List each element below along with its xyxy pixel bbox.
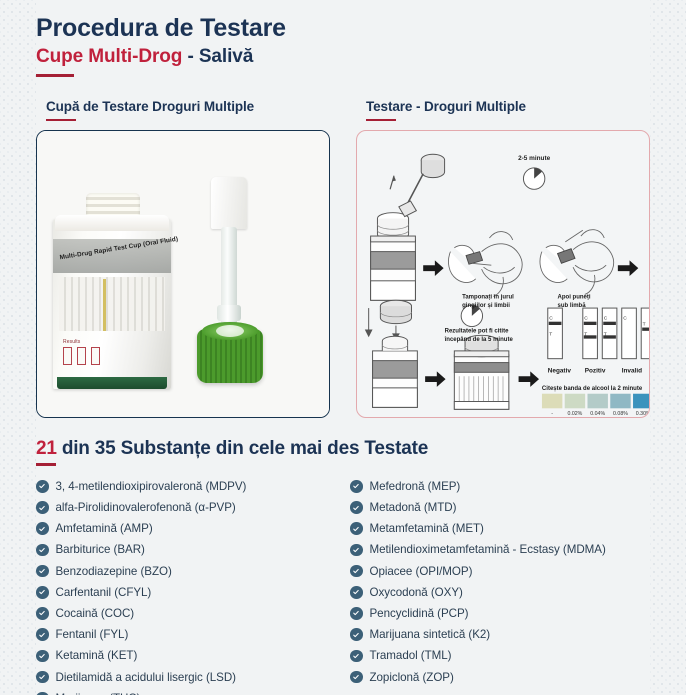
substance-label: Mefedronă (MEP) xyxy=(370,480,461,493)
collector-sponge-pad xyxy=(211,177,247,229)
substance-item: Fentanil (FYL) xyxy=(36,624,336,645)
read-note-line2: începând de la 5 minute xyxy=(444,337,514,343)
substance-item: Zopiclonă (ZOP) xyxy=(350,666,650,687)
alcohol-swatch xyxy=(610,394,630,409)
caption-under-tongue-line1: Apoi puneți xyxy=(558,295,591,301)
check-circle-icon xyxy=(36,544,49,557)
saliva-collector-device xyxy=(189,177,273,389)
check-icon xyxy=(352,609,360,617)
test-cup-device: Multi-Drug Rapid Test Cup (Oral Fluid) R… xyxy=(53,193,171,389)
substance-item: Dietilamidă a acidului lisergic (LSD) xyxy=(36,666,336,687)
arrow-3 xyxy=(425,372,445,388)
step4-screw-cap xyxy=(365,301,418,408)
substance-item: Pencyclidină (PCP) xyxy=(350,603,650,624)
check-icon xyxy=(38,525,46,533)
substances-section: 21 din 35 Substanțe din cele mai des Tes… xyxy=(36,418,650,695)
green-cap xyxy=(197,329,263,383)
substance-item: Metadonă (MTD) xyxy=(350,497,650,518)
product-panel-title: Cupă de Testare Droguri Multiple xyxy=(36,99,330,114)
procedure-diagram-frame: 2-5 minute xyxy=(356,130,650,418)
cup-test-strip-window xyxy=(59,277,165,331)
check-circle-icon xyxy=(350,671,363,684)
panels-row: Cupă de Testare Droguri Multiple Multi-D… xyxy=(36,99,650,419)
substance-label: Oxycodonă (OXY) xyxy=(370,586,463,599)
alcohol-scale-title: Citește banda de alcool la 2 minute xyxy=(542,386,643,392)
substance-item: Opiacee (OPI/MOP) xyxy=(350,561,650,582)
step5-result-cup xyxy=(454,336,509,410)
substances-heading: 21 din 35 Substanțe din cele mai des Tes… xyxy=(36,438,428,466)
substance-label: Ketamină (KET) xyxy=(56,649,138,662)
strip-mark-c: C xyxy=(549,316,553,322)
alcohol-scale: -0.02%0.04%0.08%0.30% xyxy=(542,394,649,417)
check-circle-icon xyxy=(350,650,363,663)
page-subtitle-rest: - Salivă xyxy=(182,46,253,67)
cup-strip-divider xyxy=(103,279,106,331)
substance-item: alfa-Pirolidinovalerofenonă (α-PVP) xyxy=(36,497,336,518)
alcohol-swatch xyxy=(587,394,607,409)
check-icon xyxy=(352,546,360,554)
page-header: Procedura de Testare Cupe Multi-Drog - S… xyxy=(36,0,650,77)
substances-columns: 3, 4-metilendioxipirovaleronă (MDPV)alfa… xyxy=(36,476,650,695)
result-strips xyxy=(548,308,649,359)
page-subtitle: Cupe Multi-Drog - Salivă xyxy=(36,46,650,68)
substance-item: Mefedronă (MEP) xyxy=(350,476,650,497)
substance-item: Amfetamină (AMP) xyxy=(36,518,336,539)
substance-item: Benzodiazepine (BZO) xyxy=(36,561,336,582)
check-icon xyxy=(352,482,360,490)
substance-label: Barbiturice (BAR) xyxy=(56,543,145,556)
substance-item: Marijuana sintetică (K2) xyxy=(350,624,650,645)
substance-label: Metamfetamină (MET) xyxy=(370,522,484,535)
cup-results-caption: Results xyxy=(63,339,80,345)
substance-item: Cocaină (COC) xyxy=(36,603,336,624)
substance-label: Dietilamidă a acidului lisergic (LSD) xyxy=(56,671,237,684)
check-circle-icon xyxy=(350,586,363,599)
substances-heading-rest: din 35 Substanțe din cele mai des Testat… xyxy=(57,438,428,459)
check-circle-icon xyxy=(350,628,363,641)
check-icon xyxy=(38,588,46,596)
check-icon xyxy=(38,504,46,512)
substance-label: Zopiclonă (ZOP) xyxy=(370,671,454,684)
cup-result-boxes xyxy=(63,347,100,365)
check-icon xyxy=(352,567,360,575)
substance-label: Metilendioximetamfetamină - Ecstasy (MDM… xyxy=(370,543,606,556)
strip-mark-t: T xyxy=(604,332,607,338)
result-label-invalid: Invalid xyxy=(622,368,642,375)
alcohol-swatch xyxy=(633,394,649,409)
substance-item: Barbiturice (BAR) xyxy=(36,539,336,560)
check-icon xyxy=(38,567,46,575)
procedure-panel: Testare - Droguri Multiple xyxy=(356,99,650,419)
arrow-1 xyxy=(423,261,443,277)
check-icon xyxy=(38,673,46,681)
strip-mark-c: C xyxy=(604,316,608,322)
product-photo: Multi-Drug Rapid Test Cup (Oral Fluid) R… xyxy=(37,131,329,417)
check-circle-icon xyxy=(350,480,363,493)
check-circle-icon xyxy=(36,586,49,599)
substance-label: Tramadol (TML) xyxy=(370,649,452,662)
substances-right-column: Mefedronă (MEP)Metadonă (MTD)Metamfetami… xyxy=(350,476,650,695)
product-panel-rule xyxy=(46,119,76,122)
strip-mark-t: T xyxy=(549,332,552,338)
check-circle-icon xyxy=(36,607,49,620)
substance-label: Pencyclidină (PCP) xyxy=(370,607,469,620)
substance-label: Benzodiazepine (BZO) xyxy=(56,565,172,578)
procedure-diagram-svg: 2-5 minute xyxy=(357,131,649,417)
alcohol-swatch-label: 0.30% xyxy=(636,411,649,417)
caption-swab-gums-line2: gingiilor și limbii xyxy=(462,303,510,309)
page-root: Procedura de Testare Cupe Multi-Drog - S… xyxy=(0,0,686,695)
page-title: Procedura de Testare xyxy=(36,14,650,43)
check-icon xyxy=(352,673,360,681)
arrow-2 xyxy=(618,261,638,277)
check-circle-icon xyxy=(36,480,49,493)
check-circle-icon xyxy=(36,565,49,578)
substance-label: Marijuana sintetică (K2) xyxy=(370,628,491,641)
procedure-panel-title: Testare - Droguri Multiple xyxy=(356,99,650,114)
result-pozitiv xyxy=(583,308,617,359)
check-circle-icon xyxy=(36,501,49,514)
check-icon xyxy=(38,631,46,639)
check-icon xyxy=(38,482,46,490)
cup-shoulder xyxy=(55,215,169,231)
substance-item: Tramadol (TML) xyxy=(350,645,650,666)
substance-label: Carfentanil (CFYL) xyxy=(56,586,152,599)
procedure-diagram: 2-5 minute xyxy=(357,131,649,417)
result-invalid xyxy=(622,308,649,359)
check-circle-icon xyxy=(350,607,363,620)
check-icon xyxy=(352,631,360,639)
substance-label: Opiacee (OPI/MOP) xyxy=(370,565,473,578)
substances-count: 21 xyxy=(36,438,57,459)
check-circle-icon xyxy=(36,522,49,535)
caption-swab-gums-line1: Tamponați în jurul xyxy=(462,295,514,301)
result-label-negativ: Negativ xyxy=(548,368,572,375)
substance-item: Marijuana (THC) xyxy=(36,688,336,695)
check-circle-icon xyxy=(350,501,363,514)
substance-label: Cocaină (COC) xyxy=(56,607,135,620)
substance-item: 3, 4-metilendioxipirovaleronă (MDPV) xyxy=(36,476,336,497)
substances-heading-rule xyxy=(36,463,56,466)
title-underline-rule xyxy=(36,74,74,77)
strip-mark-t: T xyxy=(584,332,587,338)
strip-mark-t: T xyxy=(643,322,646,328)
check-icon xyxy=(352,652,360,660)
product-image-frame: Multi-Drug Rapid Test Cup (Oral Fluid) R… xyxy=(36,130,330,418)
cup-green-base xyxy=(57,377,167,389)
product-panel: Cupă de Testare Droguri Multiple Multi-D… xyxy=(36,99,330,419)
alcohol-swatch xyxy=(542,394,562,409)
substance-item: Metamfetamină (MET) xyxy=(350,518,650,539)
page-subtitle-accent: Cupe Multi-Drog xyxy=(36,46,182,67)
substance-item: Oxycodonă (OXY) xyxy=(350,582,650,603)
step3-under-tongue xyxy=(540,230,614,295)
check-circle-icon xyxy=(36,650,49,663)
substance-item: Metilendioximetamfetamină - Ecstasy (MDM… xyxy=(350,539,650,560)
alcohol-swatch-label: 0.08% xyxy=(613,411,628,417)
substance-item: Ketamină (KET) xyxy=(36,645,336,666)
substance-label: Fentanil (FYL) xyxy=(56,628,129,641)
check-circle-icon xyxy=(350,544,363,557)
check-icon xyxy=(38,546,46,554)
collector-joint xyxy=(217,305,241,321)
substance-label: Metadonă (MTD) xyxy=(370,501,457,514)
substances-left-column: 3, 4-metilendioxipirovaleronă (MDPV)alfa… xyxy=(36,476,336,695)
alcohol-swatch-label: 0.02% xyxy=(567,411,582,417)
check-icon xyxy=(38,609,46,617)
caption-under-tongue-line2: sub limbă xyxy=(558,303,587,309)
strip-mark-c: C xyxy=(623,316,627,322)
alcohol-swatch-label: - xyxy=(551,411,553,417)
step2-swab-gums xyxy=(448,232,522,297)
substance-label: Amfetamină (AMP) xyxy=(56,522,153,535)
step1-swab xyxy=(390,155,445,217)
check-circle-icon xyxy=(350,522,363,535)
check-circle-icon xyxy=(36,628,49,641)
step1-closed-cup xyxy=(371,213,416,301)
alcohol-swatch xyxy=(565,394,585,409)
timer-2-5-min: 2-5 minute xyxy=(518,155,550,189)
check-icon xyxy=(352,504,360,512)
substance-label: 3, 4-metilendioxipirovaleronă (MDPV) xyxy=(56,480,247,493)
substance-label: alfa-Pirolidinovalerofenonă (α-PVP) xyxy=(56,501,236,514)
procedure-panel-rule xyxy=(366,119,396,122)
substance-item: Carfentanil (CFYL) xyxy=(36,582,336,603)
check-circle-icon xyxy=(36,671,49,684)
check-icon xyxy=(352,525,360,533)
strip-mark-c: C xyxy=(584,316,588,322)
check-icon xyxy=(38,652,46,660)
arrow-4 xyxy=(519,372,539,388)
timer-label: 2-5 minute xyxy=(518,155,550,162)
read-note-line1: Rezultatele pot fi citite xyxy=(445,329,509,335)
check-circle-icon xyxy=(350,565,363,578)
check-icon xyxy=(352,588,360,596)
result-label-pozitiv: Pozitiv xyxy=(585,368,606,375)
alcohol-swatch-label: 0.04% xyxy=(590,411,605,417)
